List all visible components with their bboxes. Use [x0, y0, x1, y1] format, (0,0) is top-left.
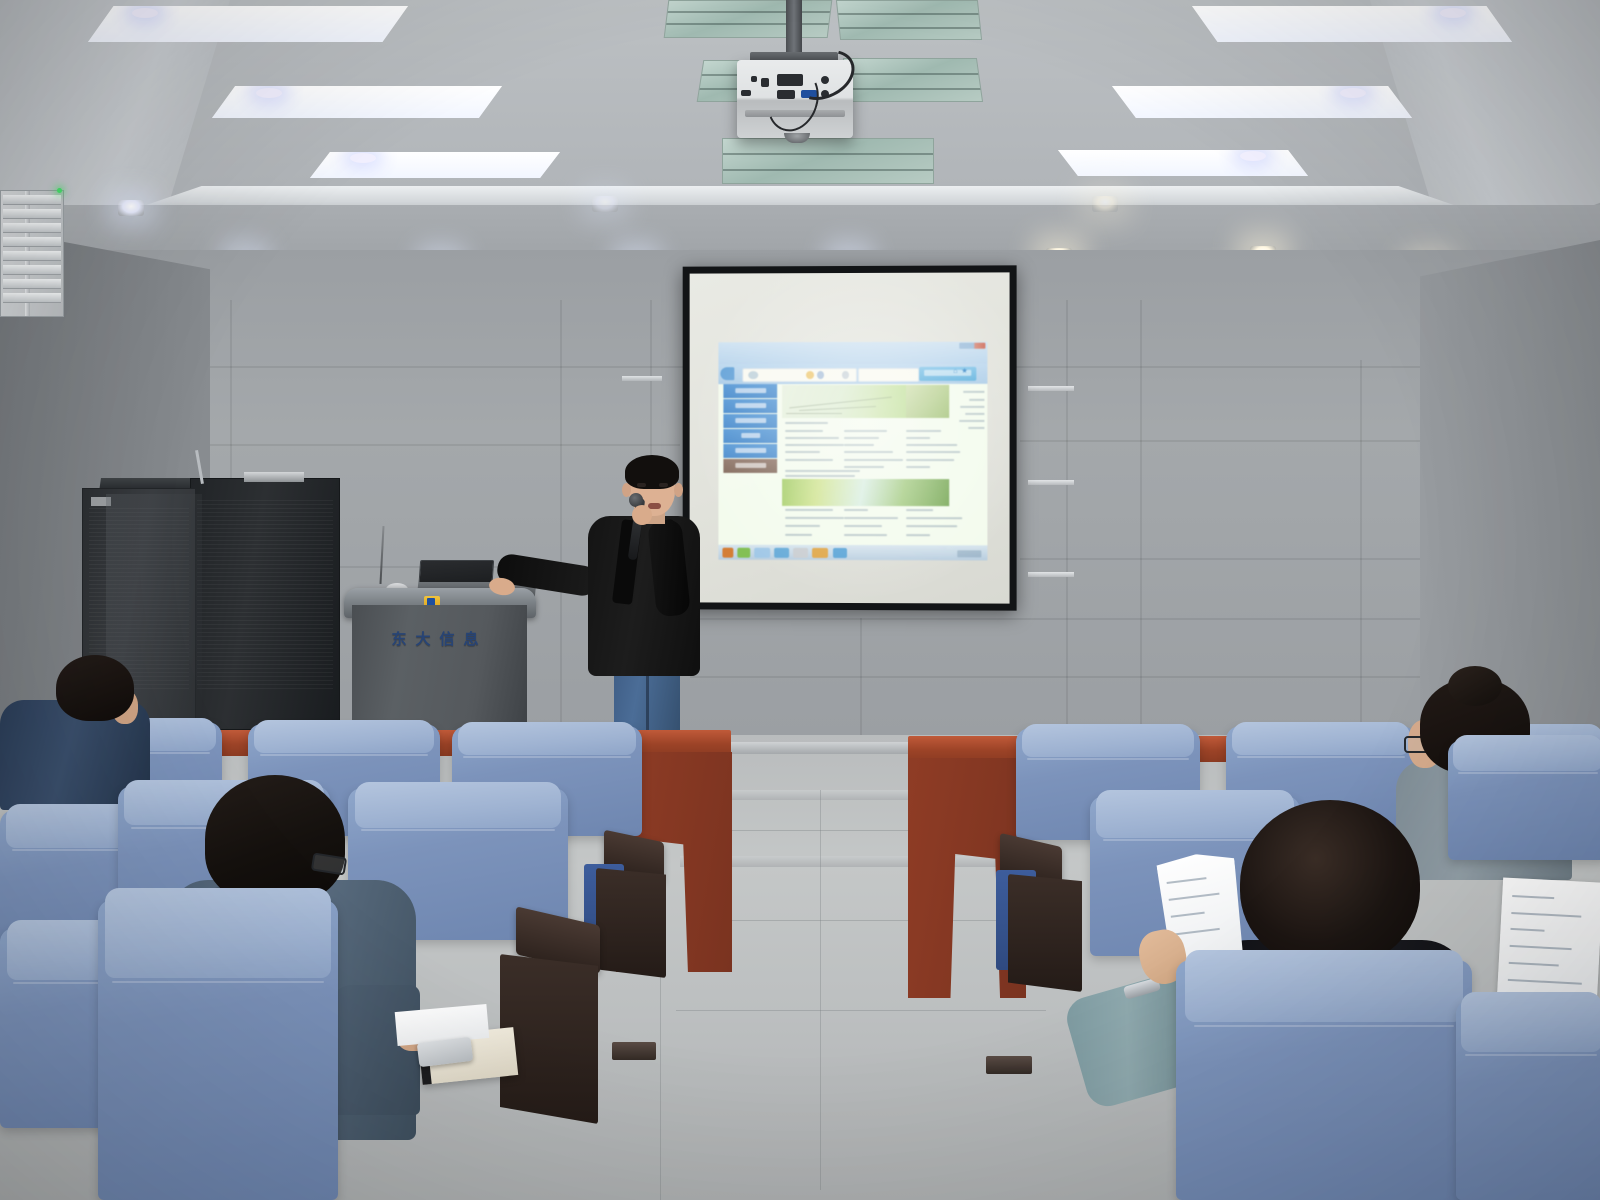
browser-title-bar: [718, 342, 987, 364]
sidebar-menu-item-3[interactable]: [724, 414, 777, 428]
browser-address-bar[interactable]: [742, 368, 857, 383]
ceiling-downlight: [1092, 196, 1118, 212]
auditorium-seat[interactable]: [1448, 740, 1600, 860]
wall-reveal-strip: [1028, 386, 1074, 391]
floor-tile-line: [660, 960, 661, 1200]
rack-top-box: [244, 472, 304, 482]
window-minimize-maximize-close-buttons[interactable]: [959, 343, 985, 349]
browser-page-body: [718, 383, 987, 545]
projection-screen[interactable]: ⌂ ★: [690, 272, 1010, 603]
taskbar-icon[interactable]: [774, 547, 789, 557]
landscape-wetland-photo: [782, 479, 949, 507]
audience-far-left-hair: [56, 655, 134, 721]
auditorium-seat[interactable]: [1176, 960, 1472, 1200]
auditorium-seat[interactable]: [98, 900, 338, 1200]
taskbar-icon[interactable]: [722, 547, 733, 557]
presenter-hair: [625, 455, 679, 489]
site-navigation-sidebar: [724, 384, 777, 476]
ceiling-air-diffuser: [722, 138, 934, 184]
projected-browser-window: ⌂ ★: [718, 342, 987, 560]
recessed-linear-light-trough: [310, 152, 560, 178]
recessed-linear-light-trough: [212, 86, 502, 118]
wall-reveal-strip: [1028, 480, 1074, 485]
sidebar-menu-item-2[interactable]: [724, 399, 777, 413]
audience-front-right-hair: [1240, 800, 1420, 968]
sidebar-menu-item-6[interactable]: [724, 459, 777, 473]
hero-banner-tree-photo: [782, 385, 949, 417]
right-wall: [1420, 240, 1600, 760]
presenter-jeans-seam: [646, 668, 649, 736]
floor-tile-line: [690, 920, 1020, 921]
ceiling-air-diffuser: [836, 0, 982, 40]
recessed-linear-light-trough: [1058, 150, 1308, 176]
recessed-linear-light-trough: [1192, 6, 1512, 42]
wall-panel-seam: [860, 618, 862, 740]
sidebar-menu-item-1[interactable]: [724, 384, 777, 398]
ceiling-air-diffuser: [664, 0, 833, 38]
seat-floor-mount: [612, 1042, 656, 1060]
recessed-linear-light-trough: [1112, 86, 1412, 118]
ceiling-downlight: [592, 196, 618, 212]
rack-status-led: [57, 188, 62, 193]
wall-reveal-strip: [1028, 572, 1074, 577]
presenter-eye-left: [637, 483, 646, 487]
wall-panel-seam: [1360, 360, 1362, 740]
floor-tile-line: [820, 790, 821, 1190]
wall-reveal-strip: [622, 376, 662, 381]
taskbar-icon[interactable]: [737, 547, 750, 557]
taskbar-icon[interactable]: [833, 548, 846, 558]
wall-panel-seam: [1140, 300, 1142, 740]
audience-front-left-hair: [205, 775, 345, 903]
taskbar-icon[interactable]: [793, 547, 808, 557]
presenter-eye-right: [659, 483, 668, 487]
lecture-hall-scene: ⌂ ★: [0, 0, 1600, 1200]
ceiling-downlight: [118, 200, 144, 216]
taskbar-icon[interactable]: [812, 548, 828, 558]
sidebar-right-links: [955, 387, 985, 432]
presenter-hand-holding-microphone: [632, 505, 652, 525]
wall-panel-seam: [1066, 300, 1068, 740]
projector-ceiling-mount: [786, 0, 802, 60]
ceiling-air-diffuser: [843, 58, 983, 102]
auditorium-seat[interactable]: [1456, 1000, 1600, 1200]
browser-search-bar[interactable]: [858, 367, 919, 382]
wall-louver-vent: [0, 190, 64, 317]
sidebar-menu-item-5[interactable]: [724, 444, 777, 458]
seat-tablet-arm: [500, 954, 598, 1124]
windows-taskbar[interactable]: [718, 545, 987, 561]
handout-on-right-edge[interactable]: [1497, 877, 1600, 1002]
floor-tile-line: [676, 1010, 1046, 1011]
taskbar-clock[interactable]: [957, 550, 981, 557]
wall-panel-seam: [560, 300, 562, 740]
browser-back-button[interactable]: [721, 367, 734, 380]
recessed-linear-light-trough: [88, 6, 408, 42]
podium-engraved-text: 东大信息: [352, 628, 527, 649]
sidebar-menu-item-4[interactable]: [724, 429, 777, 443]
audience-back-right-hair-bun: [1448, 666, 1502, 706]
lectern-podium: [352, 605, 527, 733]
seat-floor-mount: [986, 1056, 1032, 1074]
server-rack-right: [190, 478, 340, 730]
seat-tablet-arm: [1008, 874, 1082, 992]
home-and-favorites-icons[interactable]: ⌂ ★: [953, 367, 983, 380]
presenter-ear-right: [674, 483, 683, 497]
seat-tablet-arm: [596, 868, 666, 978]
screen-black-frame: ⌂ ★: [683, 265, 1017, 610]
taskbar-icon[interactable]: [754, 547, 770, 557]
